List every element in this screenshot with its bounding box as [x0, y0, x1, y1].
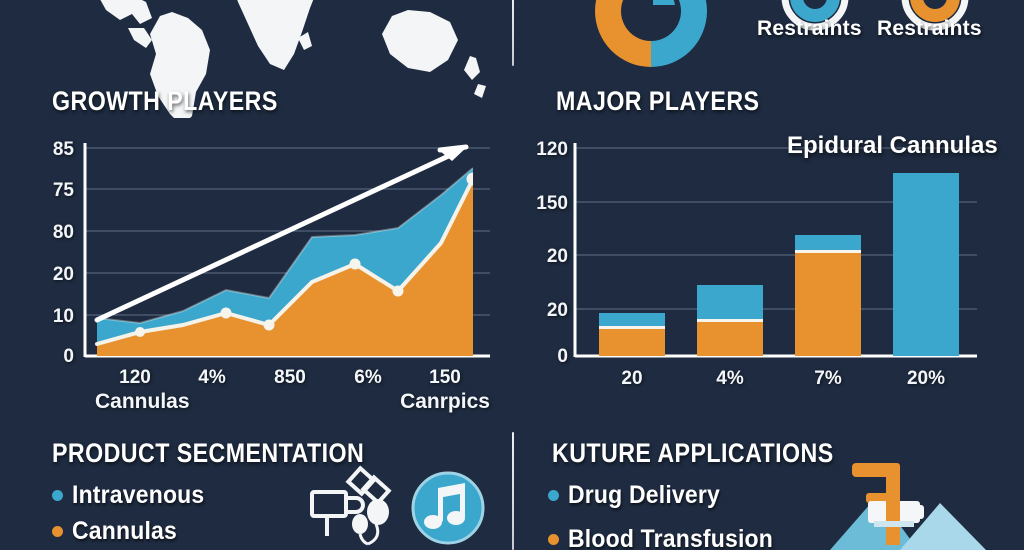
market-share-donut-chart — [578, 0, 724, 84]
growth-ytick-2: 80 — [30, 222, 74, 244]
infographic-canvas: Restraints Restraints GROWTH PLAYERS — [0, 0, 1024, 550]
growth-ytick-0: 85 — [30, 139, 74, 161]
growth-ytick-5: 0 — [30, 346, 74, 368]
bullet-dot-icon — [548, 534, 559, 545]
growth-xtick-2: 850 — [250, 367, 330, 389]
balloon-pair-icon — [352, 499, 389, 544]
growth-ytick-4: 10 — [30, 306, 74, 328]
major-panel-title: MAJOR PLAYERS — [556, 86, 793, 117]
product-item-label-1: Cannulas — [72, 517, 186, 546]
major-ytick-0: 120 — [520, 139, 568, 161]
major-ytick-3: 20 — [520, 300, 568, 322]
growth-xtick-3: 6% — [328, 367, 408, 389]
major-xtick-0: 20 — [592, 368, 672, 390]
major-xtick-2: 7% — [788, 368, 868, 390]
divider-bottom-vertical — [512, 432, 514, 550]
future-item-label-1: Blood Transfusion — [568, 525, 791, 550]
major-xtick-3: 20% — [886, 368, 966, 390]
music-note-circle-icon — [413, 473, 483, 543]
mini-donut-label-1: Restraints — [757, 17, 862, 41]
product-list-item-0[interactable]: Intravenous — [52, 481, 216, 510]
major-xtick-1: 4% — [690, 368, 770, 390]
product-segmentation-icons — [300, 462, 500, 550]
mini-donut-label-2: Restraints — [877, 17, 982, 41]
future-item-label-0: Drug Delivery — [568, 481, 733, 510]
bullet-dot-icon — [52, 490, 63, 501]
major-ytick-4: 0 — [520, 346, 568, 368]
major-bar-chart: 120 150 20 20 0 20 4% 7% 20% — [512, 125, 1024, 375]
product-list-item-1[interactable]: Cannulas — [52, 517, 186, 546]
growth-area-chart: 85 75 80 20 10 0 120 Cannulas 4% 850 6% … — [0, 125, 512, 375]
syringe-icon — [790, 455, 1005, 550]
growth-panel-title: GROWTH PLAYERS — [52, 86, 315, 117]
major-ytick-1: 150 — [520, 193, 568, 215]
divider-top-vertical — [512, 0, 514, 66]
growth-xtick-0: 120 Cannulas — [95, 367, 175, 414]
growth-ytick-1: 75 — [30, 180, 74, 202]
future-list-item-1[interactable]: Blood Transfusion — [548, 525, 791, 550]
bullet-dot-icon — [52, 526, 63, 537]
growth-ytick-3: 20 — [30, 264, 74, 286]
future-list-item-0[interactable]: Drug Delivery — [548, 481, 733, 510]
bullet-dot-icon — [548, 490, 559, 501]
growth-xtick-4: 150 Canrpics — [400, 367, 490, 414]
growth-xtick-1: 4% — [172, 367, 252, 389]
major-chart-annotation: Epidural Cannulas — [787, 132, 998, 160]
product-item-label-0: Intravenous — [72, 481, 216, 510]
major-ytick-2: 20 — [520, 246, 568, 268]
